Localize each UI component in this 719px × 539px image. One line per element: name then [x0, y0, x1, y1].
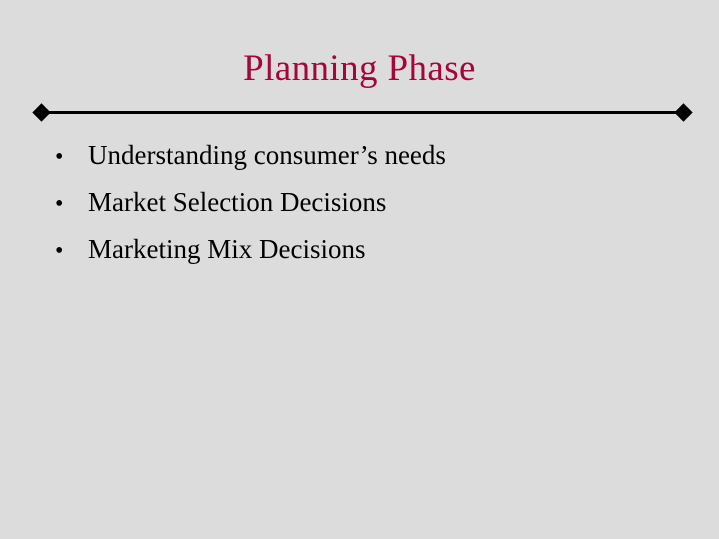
list-item-label: Marketing Mix Decisions — [88, 230, 365, 268]
list-item: • Market Selection Decisions — [55, 183, 675, 230]
bullet-point-icon: • — [55, 232, 88, 270]
title-divider — [33, 104, 692, 122]
bullet-point-icon: • — [55, 185, 88, 223]
list-item: • Marketing Mix Decisions — [55, 230, 675, 277]
list-item-label: Understanding consumer’s needs — [88, 136, 446, 174]
list-item-label: Market Selection Decisions — [88, 183, 386, 221]
bullet-point-icon: • — [55, 138, 88, 176]
diamond-cap-right-icon — [674, 103, 692, 121]
divider-line — [41, 111, 684, 114]
list-item: • Understanding consumer’s needs — [55, 136, 675, 183]
bullet-list: • Understanding consumer’s needs • Marke… — [55, 136, 675, 277]
page-title: Planning Phase — [0, 46, 719, 92]
presentation-slide: Planning Phase • Understanding consumer’… — [0, 0, 719, 539]
